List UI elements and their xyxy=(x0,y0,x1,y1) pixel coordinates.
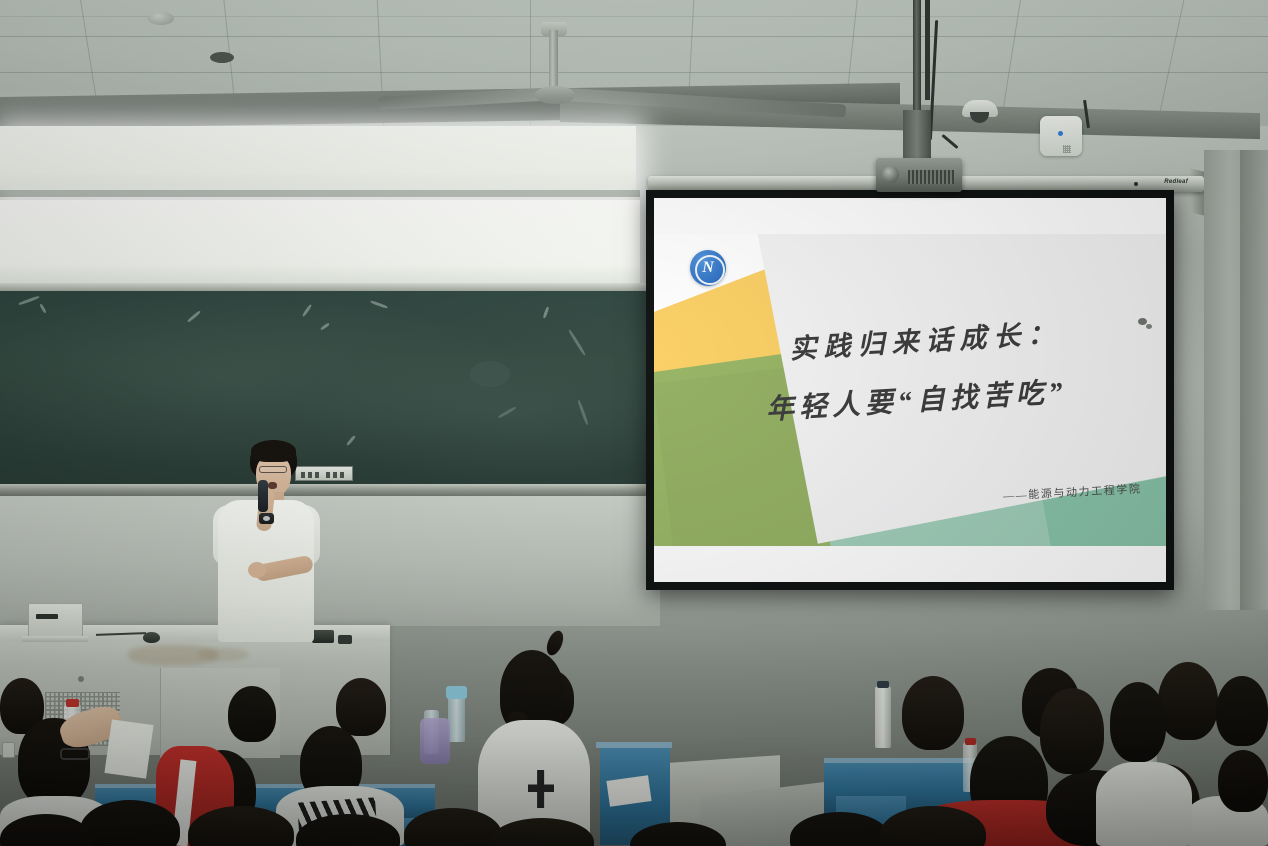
screen-surface: N 实践归来话成长： 年轻人要“自找苦吃” ——能源与动力工程学院 xyxy=(654,198,1166,582)
audience-head xyxy=(336,678,386,736)
audience-head xyxy=(228,686,276,742)
fan-hub xyxy=(535,86,575,104)
wifi-access-point xyxy=(1040,116,1082,156)
presenter-fringe xyxy=(251,440,296,462)
projector-cable-conduit xyxy=(925,0,930,100)
audience-head xyxy=(902,676,964,750)
presenter-hand-left xyxy=(248,562,266,578)
light-divider xyxy=(0,190,640,197)
housing-indicator xyxy=(1134,182,1138,186)
desk-side-edge xyxy=(596,742,672,748)
screen-brand-label: Redleaf xyxy=(1164,179,1188,185)
projection-screen: N 实践归来话成长： 年轻人要“自找苦吃” ——能源与动力工程学院 xyxy=(646,190,1174,590)
eyeglasses-icon xyxy=(60,748,90,760)
wall-blemish-2 xyxy=(1146,324,1152,329)
lecture-hall-photo: Redleaf N 实践归来话成长： 年轻人要“自找苦吃” — xyxy=(0,0,1268,846)
smoke-detector-icon xyxy=(148,12,174,25)
ap-qr-code-icon xyxy=(1063,145,1071,153)
projector-vent xyxy=(908,170,954,184)
fluorescent-light-upper xyxy=(0,126,636,192)
chalk-ledge xyxy=(0,484,650,496)
blackboard-sign xyxy=(295,466,353,481)
hair-bun xyxy=(544,628,567,657)
ap-status-led-icon xyxy=(1058,131,1063,136)
audience-head xyxy=(1218,750,1268,812)
microphone xyxy=(258,480,268,512)
presenter-glasses-icon xyxy=(259,466,287,473)
projector-rod xyxy=(913,0,921,112)
blackboard xyxy=(0,291,648,486)
audience-body xyxy=(1096,762,1192,846)
thermos-bottle xyxy=(448,696,465,742)
pencil-case xyxy=(420,718,450,764)
audience xyxy=(0,600,1268,846)
projector-lens-icon xyxy=(882,166,899,183)
bottle-cap-3 xyxy=(965,738,976,745)
water-bottle-2 xyxy=(875,686,891,748)
fan-rod xyxy=(549,30,558,92)
presentation-slide: N 实践归来话成长： 年轻人要“自找苦吃” ——能源与动力工程学院 xyxy=(654,234,1166,546)
wall-blemish xyxy=(1138,318,1147,325)
audience-sleeve xyxy=(104,719,153,778)
audience-head xyxy=(1110,682,1166,762)
logo-letter: N xyxy=(690,250,726,286)
audience-head xyxy=(1040,688,1104,774)
wristwatch-icon xyxy=(259,513,274,524)
fluorescent-light-lower xyxy=(0,200,640,286)
thermos-cap xyxy=(446,686,467,699)
wall-pillar-edge xyxy=(1240,150,1268,610)
university-logo-icon: N xyxy=(690,250,726,286)
bottle-cap xyxy=(66,699,79,707)
audience-head xyxy=(1158,662,1218,740)
projector-mount xyxy=(903,110,931,160)
ceiling-fixture xyxy=(210,52,234,63)
desk-front-left-edge xyxy=(95,784,435,788)
presenter-mouth xyxy=(268,482,277,489)
bottle-cap-2 xyxy=(877,681,889,688)
audience-head xyxy=(1216,676,1268,746)
